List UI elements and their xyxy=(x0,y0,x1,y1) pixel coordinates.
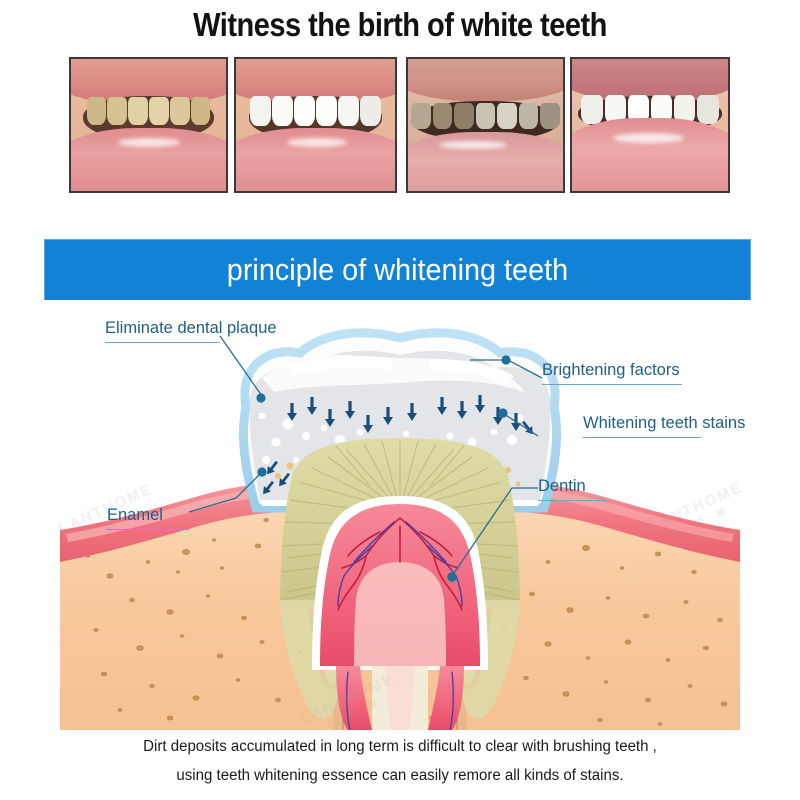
callout-line-1: Eliminate xyxy=(105,319,173,337)
callout-enamel: Enamel xyxy=(107,505,189,530)
callout-line-1: Dentin xyxy=(538,477,586,495)
page-title: Witness the birth of white teeth xyxy=(48,6,752,44)
callout-underline xyxy=(583,437,701,438)
bottom-caption: Dirt deposits accumulated in long term i… xyxy=(0,732,800,790)
photo-after-clean-teeth xyxy=(570,57,730,193)
callout-line-2: teeth stains xyxy=(661,414,745,432)
section-banner-title: principle of whitening teeth xyxy=(70,240,726,300)
callout-underline xyxy=(105,342,220,343)
photo-before-yellow-teeth xyxy=(69,57,228,193)
callout-underline xyxy=(107,529,189,530)
photo-before-stained-teeth xyxy=(406,57,565,193)
before-after-photo-strip xyxy=(0,57,800,193)
callout-dentin: Dentin xyxy=(538,476,606,501)
callout-line-1: Enamel xyxy=(107,506,163,524)
callout-underline xyxy=(538,500,606,501)
callout-eliminate-dental-plaque: Eliminate dental plaque xyxy=(105,318,277,343)
mouth-illustration xyxy=(71,59,226,191)
callout-line-1: Brightening factors xyxy=(542,361,680,379)
mouth-illustration xyxy=(236,59,395,191)
caption-line-2: using teeth whitening essence can easily… xyxy=(12,761,788,790)
callout-line-1: Whitening xyxy=(583,414,656,432)
mouth-illustration xyxy=(408,59,563,191)
product-infographic-page: Witness the birth of white teeth xyxy=(0,0,800,800)
mouth-illustration xyxy=(572,59,728,191)
pulp-chamber xyxy=(312,496,488,730)
photo-after-white-teeth xyxy=(234,57,397,193)
section-banner: principle of whitening teeth xyxy=(45,240,750,300)
callout-underline xyxy=(542,384,682,385)
callout-whitening-teeth-stains: Whitening teeth stains xyxy=(583,413,745,438)
caption-line-1: Dirt deposits accumulated in long term i… xyxy=(12,732,788,761)
callout-brightening-factors: Brightening factors xyxy=(542,360,682,385)
callout-line-2: dental plaque xyxy=(177,319,276,337)
